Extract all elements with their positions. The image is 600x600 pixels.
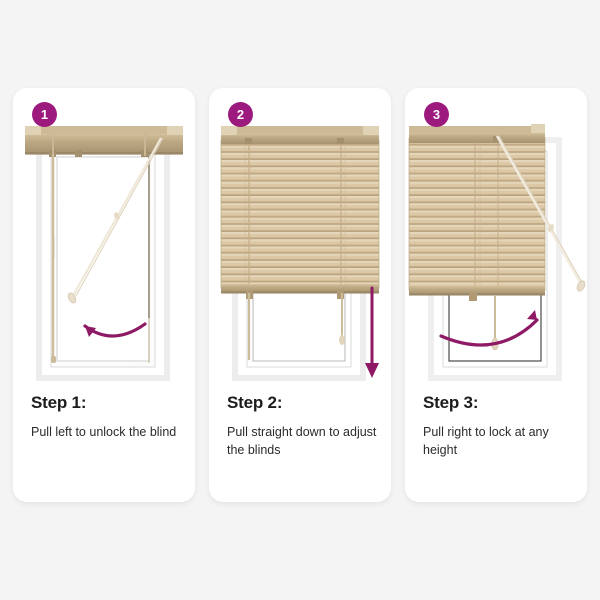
step-description: Pull right to lock at any height [423,424,573,460]
step-card-3[interactable]: 3 [405,88,587,502]
step-title: Step 2: [227,393,377,413]
step-badge-label: 3 [433,108,440,121]
step-badge-3: 3 [424,102,449,127]
step-card-2[interactable]: 2 [209,88,391,502]
step-text-1: Step 1: Pull left to unlock the blind [31,393,181,442]
step-text-3: Step 3: Pull right to lock at any height [423,393,573,460]
step-title: Step 1: [31,393,181,413]
step-title: Step 3: [423,393,573,413]
step-badge-1: 1 [32,102,57,127]
step-text-2: Step 2: Pull straight down to adjust the… [227,393,377,460]
instruction-board: 1 [0,0,600,600]
illustration-step-1 [13,88,195,388]
step-description: Pull left to unlock the blind [31,424,181,442]
step-badge-label: 2 [237,108,244,121]
step-card-1[interactable]: 1 [13,88,195,502]
step-badge-2: 2 [228,102,253,127]
step-badge-label: 1 [41,108,48,121]
illustration-step-2 [209,88,391,388]
illustration-step-3 [405,88,587,388]
step-description: Pull straight down to adjust the blinds [227,424,377,460]
